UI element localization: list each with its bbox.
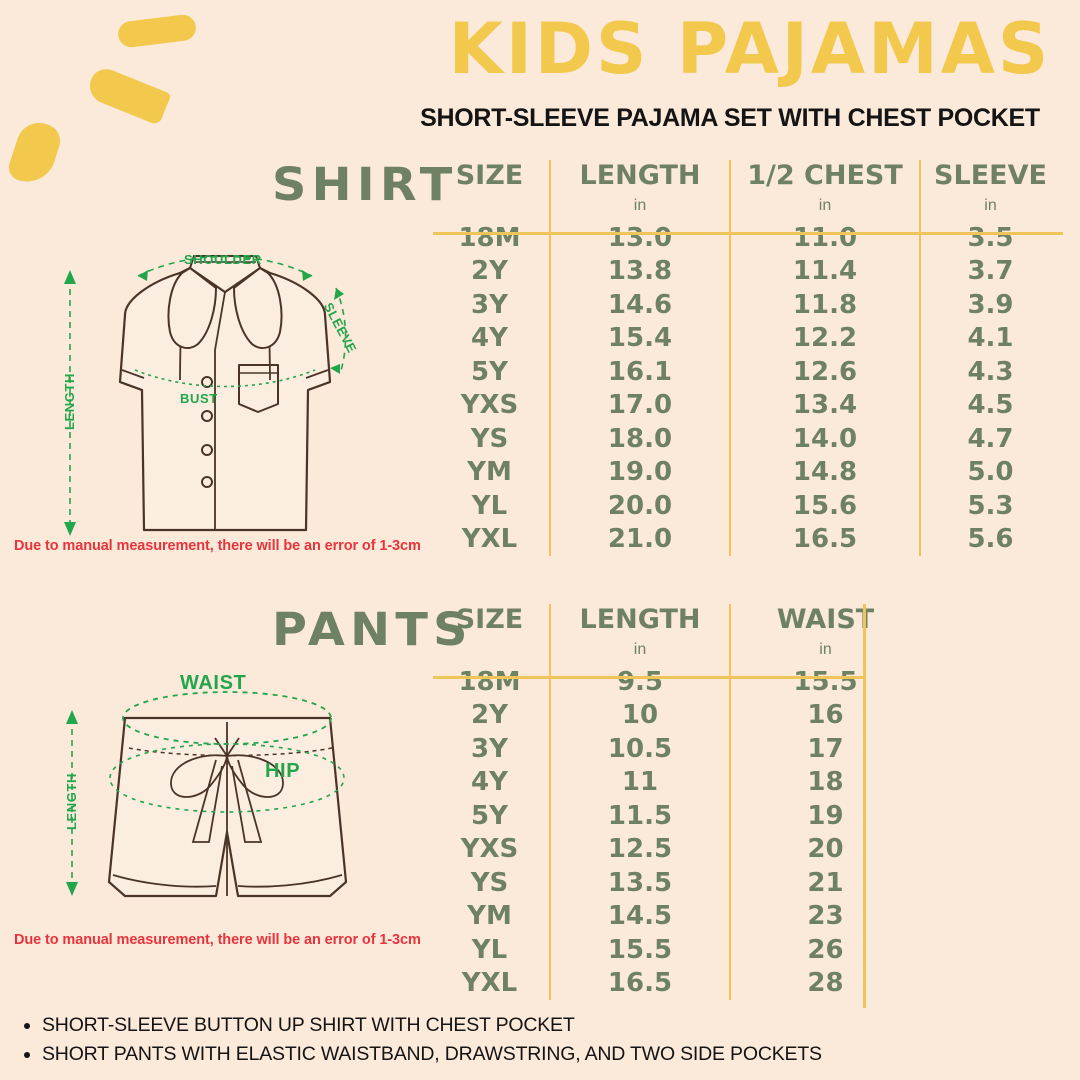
measure-cell: 23 xyxy=(730,900,920,934)
shirt-col-sleeve: SLEEVE in xyxy=(920,160,1060,221)
measure-cell: 9.5 xyxy=(550,665,730,699)
measure-cell: 19.0 xyxy=(550,456,730,490)
measure-cell: 18.0 xyxy=(550,422,730,456)
measure-cell: 13.0 xyxy=(550,221,730,255)
measure-cell: 21 xyxy=(730,866,920,900)
shirt-illustration xyxy=(30,240,420,540)
size-cell: 18M xyxy=(430,665,550,699)
page-subtitle: SHORT-SLEEVE PAJAMA SET WITH CHEST POCKE… xyxy=(380,104,1080,133)
measure-cell: 4.7 xyxy=(920,422,1060,456)
measure-cell: 16.1 xyxy=(550,355,730,389)
table-row: YM19.014.85.0 xyxy=(430,456,1060,490)
measure-cell: 10.5 xyxy=(550,732,730,766)
feature-list: SHORT-SLEEVE BUTTON UP SHIRT WITH CHEST … xyxy=(14,1014,822,1072)
measure-cell: 15.6 xyxy=(730,489,920,523)
measure-cell: 13.4 xyxy=(730,389,920,423)
size-cell: YS xyxy=(430,422,550,456)
table-row: 2Y13.811.43.7 xyxy=(430,255,1060,289)
size-cell: 4Y xyxy=(430,322,550,356)
size-cell: YL xyxy=(430,489,550,523)
size-cell: 4Y xyxy=(430,766,550,800)
measure-cell: 15.5 xyxy=(730,665,920,699)
pants-illustration xyxy=(30,660,420,940)
size-cell: 3Y xyxy=(430,732,550,766)
table-row: YS13.521 xyxy=(430,866,920,900)
measure-cell: 4.1 xyxy=(920,322,1060,356)
shirt-col-size: SIZE xyxy=(430,160,550,221)
measure-cell: 17 xyxy=(730,732,920,766)
shirt-table-header-row: SIZE LENGTH in 1/2 CHEST in SLEEVE in xyxy=(430,160,1060,221)
table-row: YL20.015.65.3 xyxy=(430,489,1060,523)
decorative-blob-icon xyxy=(117,13,198,48)
measure-cell: 3.5 xyxy=(920,221,1060,255)
pants-disclaimer: Due to manual measurement, there will be… xyxy=(14,932,421,948)
table-row: YS18.014.04.7 xyxy=(430,422,1060,456)
measure-cell: 15.5 xyxy=(550,933,730,967)
pants-right-rule xyxy=(863,604,866,1008)
measure-cell: 14.5 xyxy=(550,900,730,934)
measure-cell: 5.3 xyxy=(920,489,1060,523)
decorative-blob-icon xyxy=(85,64,172,125)
measure-cell: 11.5 xyxy=(550,799,730,833)
bullet-dot-icon xyxy=(24,1023,30,1029)
shirt-disclaimer: Due to manual measurement, there will be… xyxy=(14,538,421,554)
pants-label-waist: WAIST xyxy=(180,672,246,695)
table-row: YXL16.528 xyxy=(430,967,920,1001)
measure-cell: 18 xyxy=(730,766,920,800)
measure-cell: 3.9 xyxy=(920,288,1060,322)
pants-col-length: LENGTH in xyxy=(550,604,730,665)
table-row: YXL21.016.55.6 xyxy=(430,523,1060,557)
table-row: YM14.523 xyxy=(430,900,920,934)
size-cell: YS xyxy=(430,866,550,900)
measure-cell: 5.0 xyxy=(920,456,1060,490)
table-row: 4Y1118 xyxy=(430,766,920,800)
measure-cell: 10 xyxy=(550,699,730,733)
page-title: KIDS PAJAMAS xyxy=(430,14,1070,84)
table-row: 18M13.011.03.5 xyxy=(430,221,1060,255)
shirt-col-half-chest: 1/2 CHEST in xyxy=(730,160,920,221)
measure-cell: 20 xyxy=(730,833,920,867)
measure-cell: 21.0 xyxy=(550,523,730,557)
measure-cell: 20.0 xyxy=(550,489,730,523)
measure-cell: 19 xyxy=(730,799,920,833)
table-row: 5Y16.112.64.3 xyxy=(430,355,1060,389)
measure-cell: 13.5 xyxy=(550,866,730,900)
measure-cell: 11 xyxy=(550,766,730,800)
measure-cell: 12.2 xyxy=(730,322,920,356)
feature-text: SHORT PANTS WITH ELASTIC WAISTBAND, DRAW… xyxy=(42,1043,822,1066)
size-cell: 5Y xyxy=(430,799,550,833)
measure-cell: 5.6 xyxy=(920,523,1060,557)
size-cell: YXL xyxy=(430,523,550,557)
shirt-label-shoulder: SHOULDER xyxy=(184,252,262,267)
measure-cell: 4.5 xyxy=(920,389,1060,423)
measure-cell: 14.0 xyxy=(730,422,920,456)
size-cell: 5Y xyxy=(430,355,550,389)
measure-cell: 14.6 xyxy=(550,288,730,322)
size-cell: 2Y xyxy=(430,699,550,733)
measure-cell: 11.4 xyxy=(730,255,920,289)
table-row: 2Y1016 xyxy=(430,699,920,733)
table-row: 5Y11.519 xyxy=(430,799,920,833)
list-item: SHORT-SLEEVE BUTTON UP SHIRT WITH CHEST … xyxy=(14,1014,822,1037)
table-row: 3Y14.611.83.9 xyxy=(430,288,1060,322)
measure-cell: 14.8 xyxy=(730,456,920,490)
measure-cell: 3.7 xyxy=(920,255,1060,289)
bullet-dot-icon xyxy=(24,1052,30,1058)
size-cell: YM xyxy=(430,900,550,934)
table-row: 4Y15.412.24.1 xyxy=(430,322,1060,356)
pants-col-size: SIZE xyxy=(430,604,550,665)
decorative-blob-icon xyxy=(5,117,64,189)
shirt-header-rule xyxy=(433,232,1063,235)
size-cell: YXS xyxy=(430,389,550,423)
size-cell: YL xyxy=(430,933,550,967)
shirt-label-length: LENGTH xyxy=(62,373,77,430)
measure-cell: 15.4 xyxy=(550,322,730,356)
measure-cell: 13.8 xyxy=(550,255,730,289)
measure-cell: 28 xyxy=(730,967,920,1001)
pants-table-header-row: SIZE LENGTH in WAIST in xyxy=(430,604,920,665)
shirt-col-length: LENGTH in xyxy=(550,160,730,221)
shirt-size-table: SIZE LENGTH in 1/2 CHEST in SLEEVE in xyxy=(430,160,1060,556)
measure-cell: 16 xyxy=(730,699,920,733)
shirt-label-bust: BUST xyxy=(180,391,218,406)
size-cell: YXS xyxy=(430,833,550,867)
measure-cell: 12.6 xyxy=(730,355,920,389)
measure-cell: 26 xyxy=(730,933,920,967)
table-row: YXS12.520 xyxy=(430,833,920,867)
table-row: 18M9.515.5 xyxy=(430,665,920,699)
size-cell: YXL xyxy=(430,967,550,1001)
size-chart-page: KIDS PAJAMAS SHORT-SLEEVE PAJAMA SET WIT… xyxy=(0,0,1080,1080)
measure-cell: 16.5 xyxy=(550,967,730,1001)
pants-col-waist: WAIST in xyxy=(730,604,920,665)
measure-cell: 11.8 xyxy=(730,288,920,322)
pants-label-length: LENGTH xyxy=(64,773,79,830)
measure-cell: 11.0 xyxy=(730,221,920,255)
pants-header-rule xyxy=(433,676,865,679)
pants-size-table: SIZE LENGTH in WAIST in 18M9.515.52Y1016… xyxy=(430,604,920,1000)
pants-label-hip: HIP xyxy=(265,760,300,783)
measure-cell: 4.3 xyxy=(920,355,1060,389)
table-row: YL15.526 xyxy=(430,933,920,967)
size-cell: YM xyxy=(430,456,550,490)
size-cell: 3Y xyxy=(430,288,550,322)
table-row: 3Y10.517 xyxy=(430,732,920,766)
list-item: SHORT PANTS WITH ELASTIC WAISTBAND, DRAW… xyxy=(14,1043,822,1066)
size-cell: 2Y xyxy=(430,255,550,289)
size-cell: 18M xyxy=(430,221,550,255)
feature-text: SHORT-SLEEVE BUTTON UP SHIRT WITH CHEST … xyxy=(42,1014,575,1037)
measure-cell: 16.5 xyxy=(730,523,920,557)
measure-cell: 17.0 xyxy=(550,389,730,423)
table-row: YXS17.013.44.5 xyxy=(430,389,1060,423)
measure-cell: 12.5 xyxy=(550,833,730,867)
